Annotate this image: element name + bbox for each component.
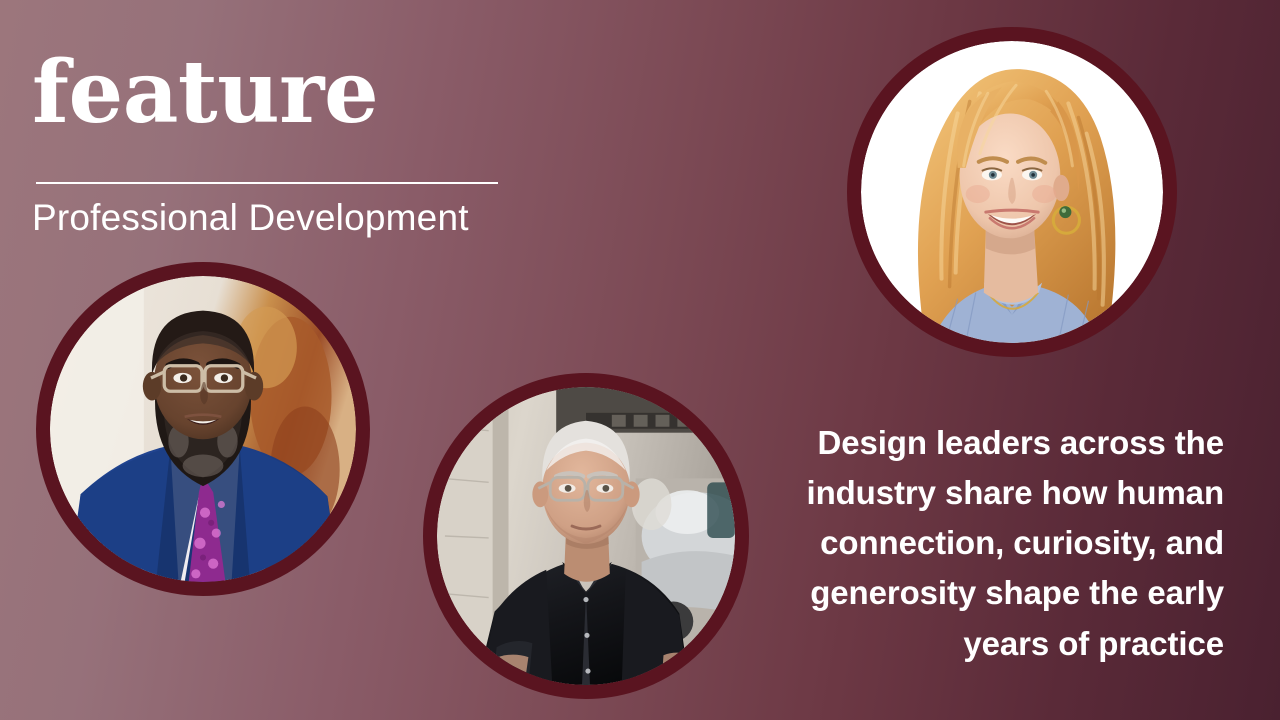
page-title: feature [32, 52, 502, 134]
portrait-center [423, 373, 749, 699]
portrait-right [847, 27, 1177, 357]
portrait-left-illustration [50, 276, 356, 582]
portrait-center-illustration [437, 387, 735, 685]
portrait-left [36, 262, 370, 596]
feature-slide: feature Professional Development [0, 0, 1280, 720]
title-divider [36, 182, 498, 184]
title-block: feature Professional Development [32, 52, 502, 238]
category-label: Professional Development [32, 198, 502, 239]
portrait-right-illustration [861, 41, 1163, 343]
deck-text: Design leaders across the industry share… [780, 418, 1224, 669]
